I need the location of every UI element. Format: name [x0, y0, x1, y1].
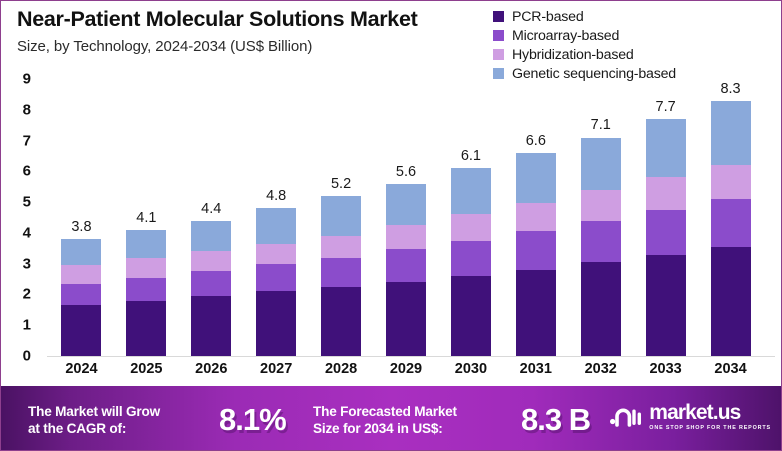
bar-segment: [321, 236, 361, 258]
logo-name: market.us: [649, 402, 771, 423]
bar-value-label: 7.1: [591, 117, 611, 133]
legend-item[interactable]: Microarray-based: [493, 26, 676, 45]
x-axis-tick-label: 2029: [386, 361, 426, 377]
x-axis-tick-label: 2031: [516, 361, 556, 377]
bar-segment: [451, 168, 491, 214]
y-axis-tick-label: 8: [23, 101, 31, 118]
bar-column[interactable]: 8.3: [711, 101, 751, 356]
bar-segment: [451, 276, 491, 356]
bar-value-label: 6.1: [461, 148, 481, 164]
bar-segment: [386, 184, 426, 226]
y-axis-tick-label: 3: [23, 255, 31, 272]
market-us-logo[interactable]: market.us ONE STOP SHOP FOR THE REPORTS: [608, 400, 771, 434]
plot-area: 0123456789 3.84.14.44.85.25.66.16.67.17.…: [1, 79, 782, 386]
cagr-label-line2: at the CAGR of:: [28, 421, 160, 438]
bar-column[interactable]: 4.8: [256, 208, 296, 356]
bar-segment: [191, 221, 231, 252]
bar-segment: [61, 265, 101, 283]
bar-segment: [256, 244, 296, 265]
x-axis-tick-label: 2025: [126, 361, 166, 377]
bar-segment: [386, 282, 426, 356]
market-us-logo-icon: [608, 404, 642, 430]
bar-segment: [61, 284, 101, 306]
x-axis-tick-label: 2030: [451, 361, 491, 377]
bar-segment: [646, 210, 686, 256]
bar-column[interactable]: 3.8: [61, 239, 101, 356]
bar-column[interactable]: 6.6: [516, 153, 556, 356]
bar-column[interactable]: 4.4: [191, 221, 231, 356]
cagr-value: 8.1%: [219, 402, 286, 438]
bar-segment: [581, 262, 621, 356]
y-axis-tick-label: 6: [23, 163, 31, 180]
forecast-label-line1: The Forecasted Market: [313, 404, 457, 421]
x-axis-tick-label: 2027: [256, 361, 296, 377]
chart-infographic: Near-Patient Molecular Solutions Market …: [0, 0, 782, 451]
bar-segment: [61, 305, 101, 356]
bar-series-group: 3.84.14.44.85.25.66.16.67.17.78.3: [47, 79, 775, 356]
bar-segment: [191, 296, 231, 356]
bar-value-label: 3.8: [71, 219, 91, 235]
summary-banner: The Market will Grow at the CAGR of: 8.1…: [1, 386, 782, 450]
page-title: Near-Patient Molecular Solutions Market: [17, 7, 417, 32]
bar-segment: [581, 138, 621, 190]
x-axis-tick-label: 2026: [191, 361, 231, 377]
forecast-label-line2: Size for 2034 in US$:: [313, 421, 457, 438]
legend-item-label: PCR-based: [512, 9, 584, 25]
y-axis-tick-label: 0: [23, 348, 31, 365]
bar-segment: [191, 271, 231, 296]
market-us-logo-text: market.us ONE STOP SHOP FOR THE REPORTS: [649, 402, 771, 431]
legend-swatch-icon: [493, 30, 504, 41]
bar-value-label: 4.4: [201, 201, 221, 217]
bar-segment: [126, 258, 166, 277]
chart-legend: PCR-basedMicroarray-basedHybridization-b…: [493, 7, 676, 83]
y-axis-tick-label: 1: [23, 317, 31, 334]
y-axis-tick-label: 5: [23, 194, 31, 211]
bar-column[interactable]: 4.1: [126, 230, 166, 356]
bar-segment: [386, 225, 426, 249]
bar-segment: [61, 239, 101, 265]
bar-value-label: 5.6: [396, 164, 416, 180]
bar-segment: [516, 231, 556, 269]
bar-segment: [256, 208, 296, 243]
cagr-label-line1: The Market will Grow: [28, 404, 160, 421]
bar-segment: [256, 291, 296, 356]
x-axis-tick-label: 2034: [711, 361, 751, 377]
bar-segment: [711, 165, 751, 199]
bar-column[interactable]: 7.7: [646, 119, 686, 356]
bar-segment: [581, 221, 621, 263]
bar-segment: [126, 301, 166, 356]
x-axis-tick-label: 2032: [581, 361, 621, 377]
bar-segment: [256, 264, 296, 291]
bar-value-label: 4.1: [136, 210, 156, 226]
legend-swatch-icon: [493, 49, 504, 60]
x-axis-tick-label: 2033: [646, 361, 686, 377]
bar-segment: [711, 199, 751, 247]
bar-segment: [451, 241, 491, 276]
legend-swatch-icon: [493, 68, 504, 79]
chart-subtitle: Size, by Technology, 2024-2034 (US$ Bill…: [17, 38, 312, 55]
x-axis-line: [47, 356, 775, 357]
y-axis-tick-label: 9: [23, 71, 31, 88]
bar-column[interactable]: 6.1: [451, 168, 491, 356]
logo-tagline: ONE STOP SHOP FOR THE REPORTS: [649, 426, 771, 431]
bar-segment: [581, 190, 621, 221]
bar-segment: [711, 247, 751, 356]
bar-column[interactable]: 5.6: [386, 184, 426, 356]
y-axis-tick-label: 7: [23, 132, 31, 149]
bar-segment: [321, 196, 361, 236]
bar-segment: [646, 255, 686, 356]
y-axis-tick-label: 2: [23, 286, 31, 303]
y-axis-tick-label: 4: [23, 224, 31, 241]
forecast-label: The Forecasted Market Size for 2034 in U…: [313, 404, 457, 438]
bar-segment: [516, 270, 556, 356]
legend-item[interactable]: Hybridization-based: [493, 45, 676, 64]
bar-column[interactable]: 7.1: [581, 138, 621, 356]
bar-column[interactable]: 5.2: [321, 196, 361, 356]
bar-value-label: 8.3: [720, 81, 740, 97]
bar-segment: [516, 153, 556, 203]
bar-segment: [321, 287, 361, 356]
y-axis: 0123456789: [1, 79, 47, 356]
bar-segment: [321, 258, 361, 287]
bar-segment: [646, 119, 686, 177]
bar-segment: [126, 278, 166, 301]
cagr-label: The Market will Grow at the CAGR of:: [28, 404, 160, 438]
bar-value-label: 6.6: [526, 133, 546, 149]
bar-value-label: 7.7: [656, 99, 676, 115]
legend-item-label: Hybridization-based: [512, 47, 634, 63]
bar-value-label: 5.2: [331, 176, 351, 192]
legend-item-label: Microarray-based: [512, 28, 619, 44]
bar-value-label: 4.8: [266, 188, 286, 204]
bar-segment: [516, 203, 556, 231]
bar-segment: [126, 230, 166, 258]
x-axis-tick-label: 2028: [321, 361, 361, 377]
x-axis-tick-label: 2024: [61, 361, 101, 377]
legend-item[interactable]: PCR-based: [493, 7, 676, 26]
bar-segment: [711, 101, 751, 166]
bar-segment: [451, 214, 491, 240]
bar-segment: [386, 249, 426, 281]
legend-swatch-icon: [493, 11, 504, 22]
forecast-value: 8.3 B: [521, 402, 590, 438]
x-axis: 2024202520262027202820292030203120322033…: [47, 358, 775, 386]
bar-segment: [646, 177, 686, 210]
bar-segment: [191, 251, 231, 271]
